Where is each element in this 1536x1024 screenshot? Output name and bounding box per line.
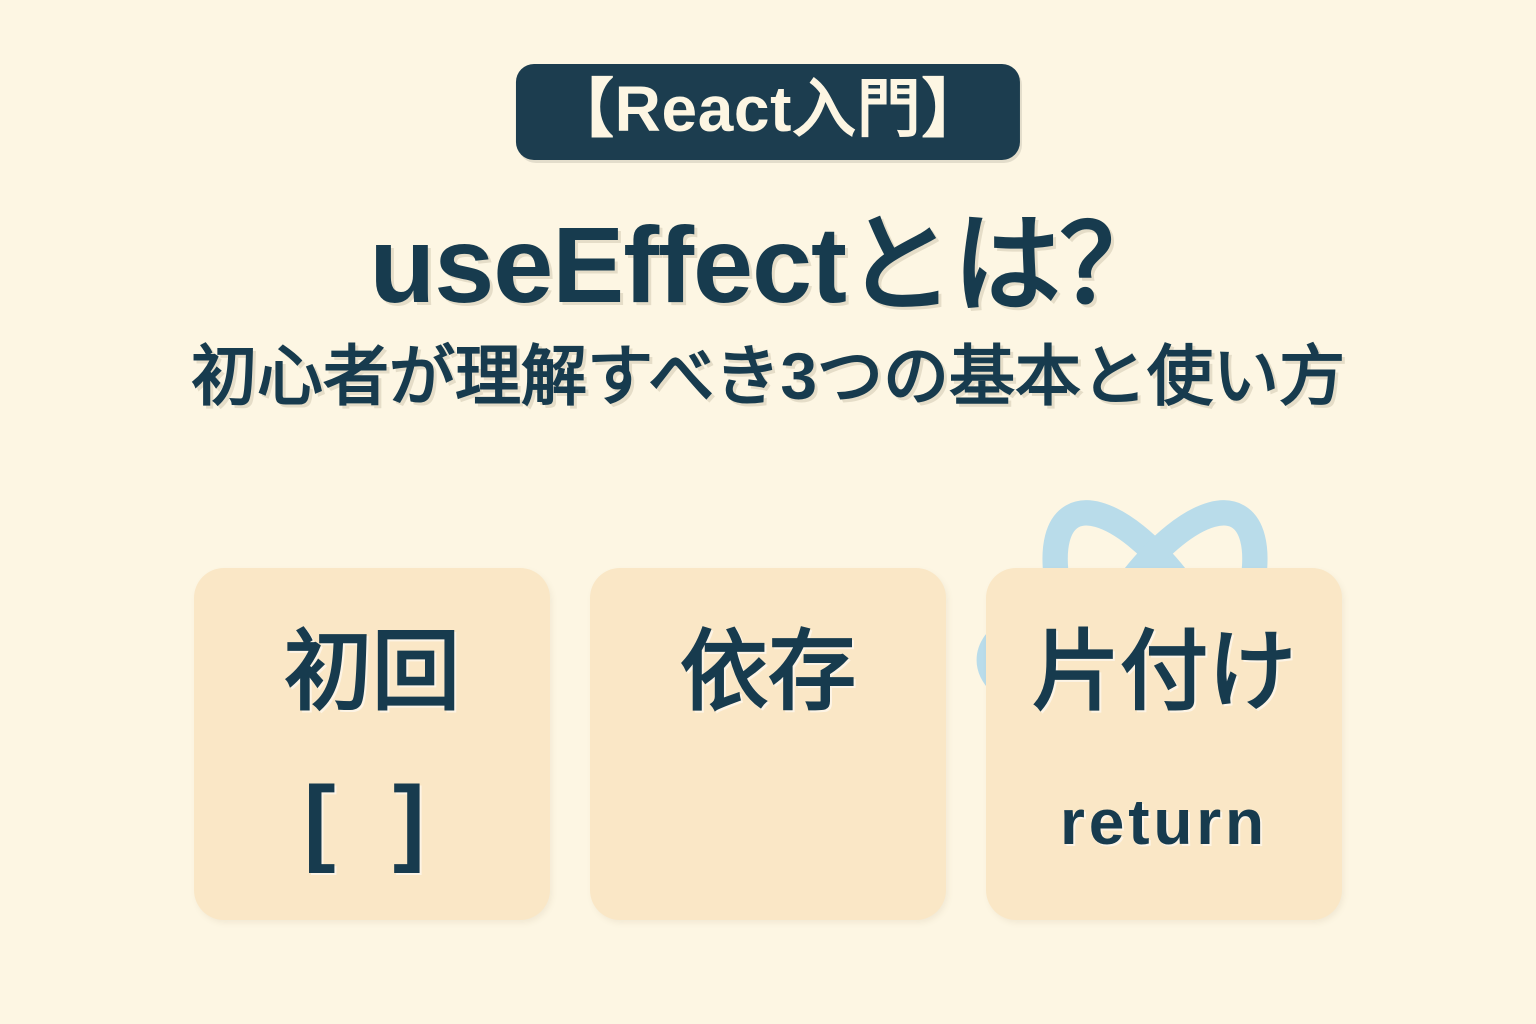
concept-card-row: 初回 [ ] 依存 片付け return bbox=[194, 568, 1342, 920]
concept-card-subtitle: [ ] bbox=[304, 771, 441, 872]
page-subtitle: 初心者が理解すべき3つの基本と使い方 bbox=[0, 340, 1536, 414]
concept-card-title: 初回 bbox=[284, 624, 460, 721]
category-badge: 【React入門】 bbox=[516, 64, 1020, 160]
concept-card-subtitle: return bbox=[1060, 789, 1268, 856]
concept-card-dependency: 依存 bbox=[590, 568, 946, 920]
page-title: useEffectとは？ bbox=[0, 205, 1536, 326]
headline-block: useEffectとは？ 初心者が理解すべき3つの基本と使い方 bbox=[0, 205, 1536, 414]
concept-card-title: 依存 bbox=[680, 624, 856, 721]
thumbnail-canvas: 【React入門】 useEffectとは？ 初心者が理解すべき3つの基本と使い… bbox=[0, 0, 1536, 1024]
concept-card-title: 片付け bbox=[1032, 624, 1296, 721]
concept-card-initial: 初回 [ ] bbox=[194, 568, 550, 920]
concept-card-cleanup: 片付け return bbox=[986, 568, 1342, 920]
